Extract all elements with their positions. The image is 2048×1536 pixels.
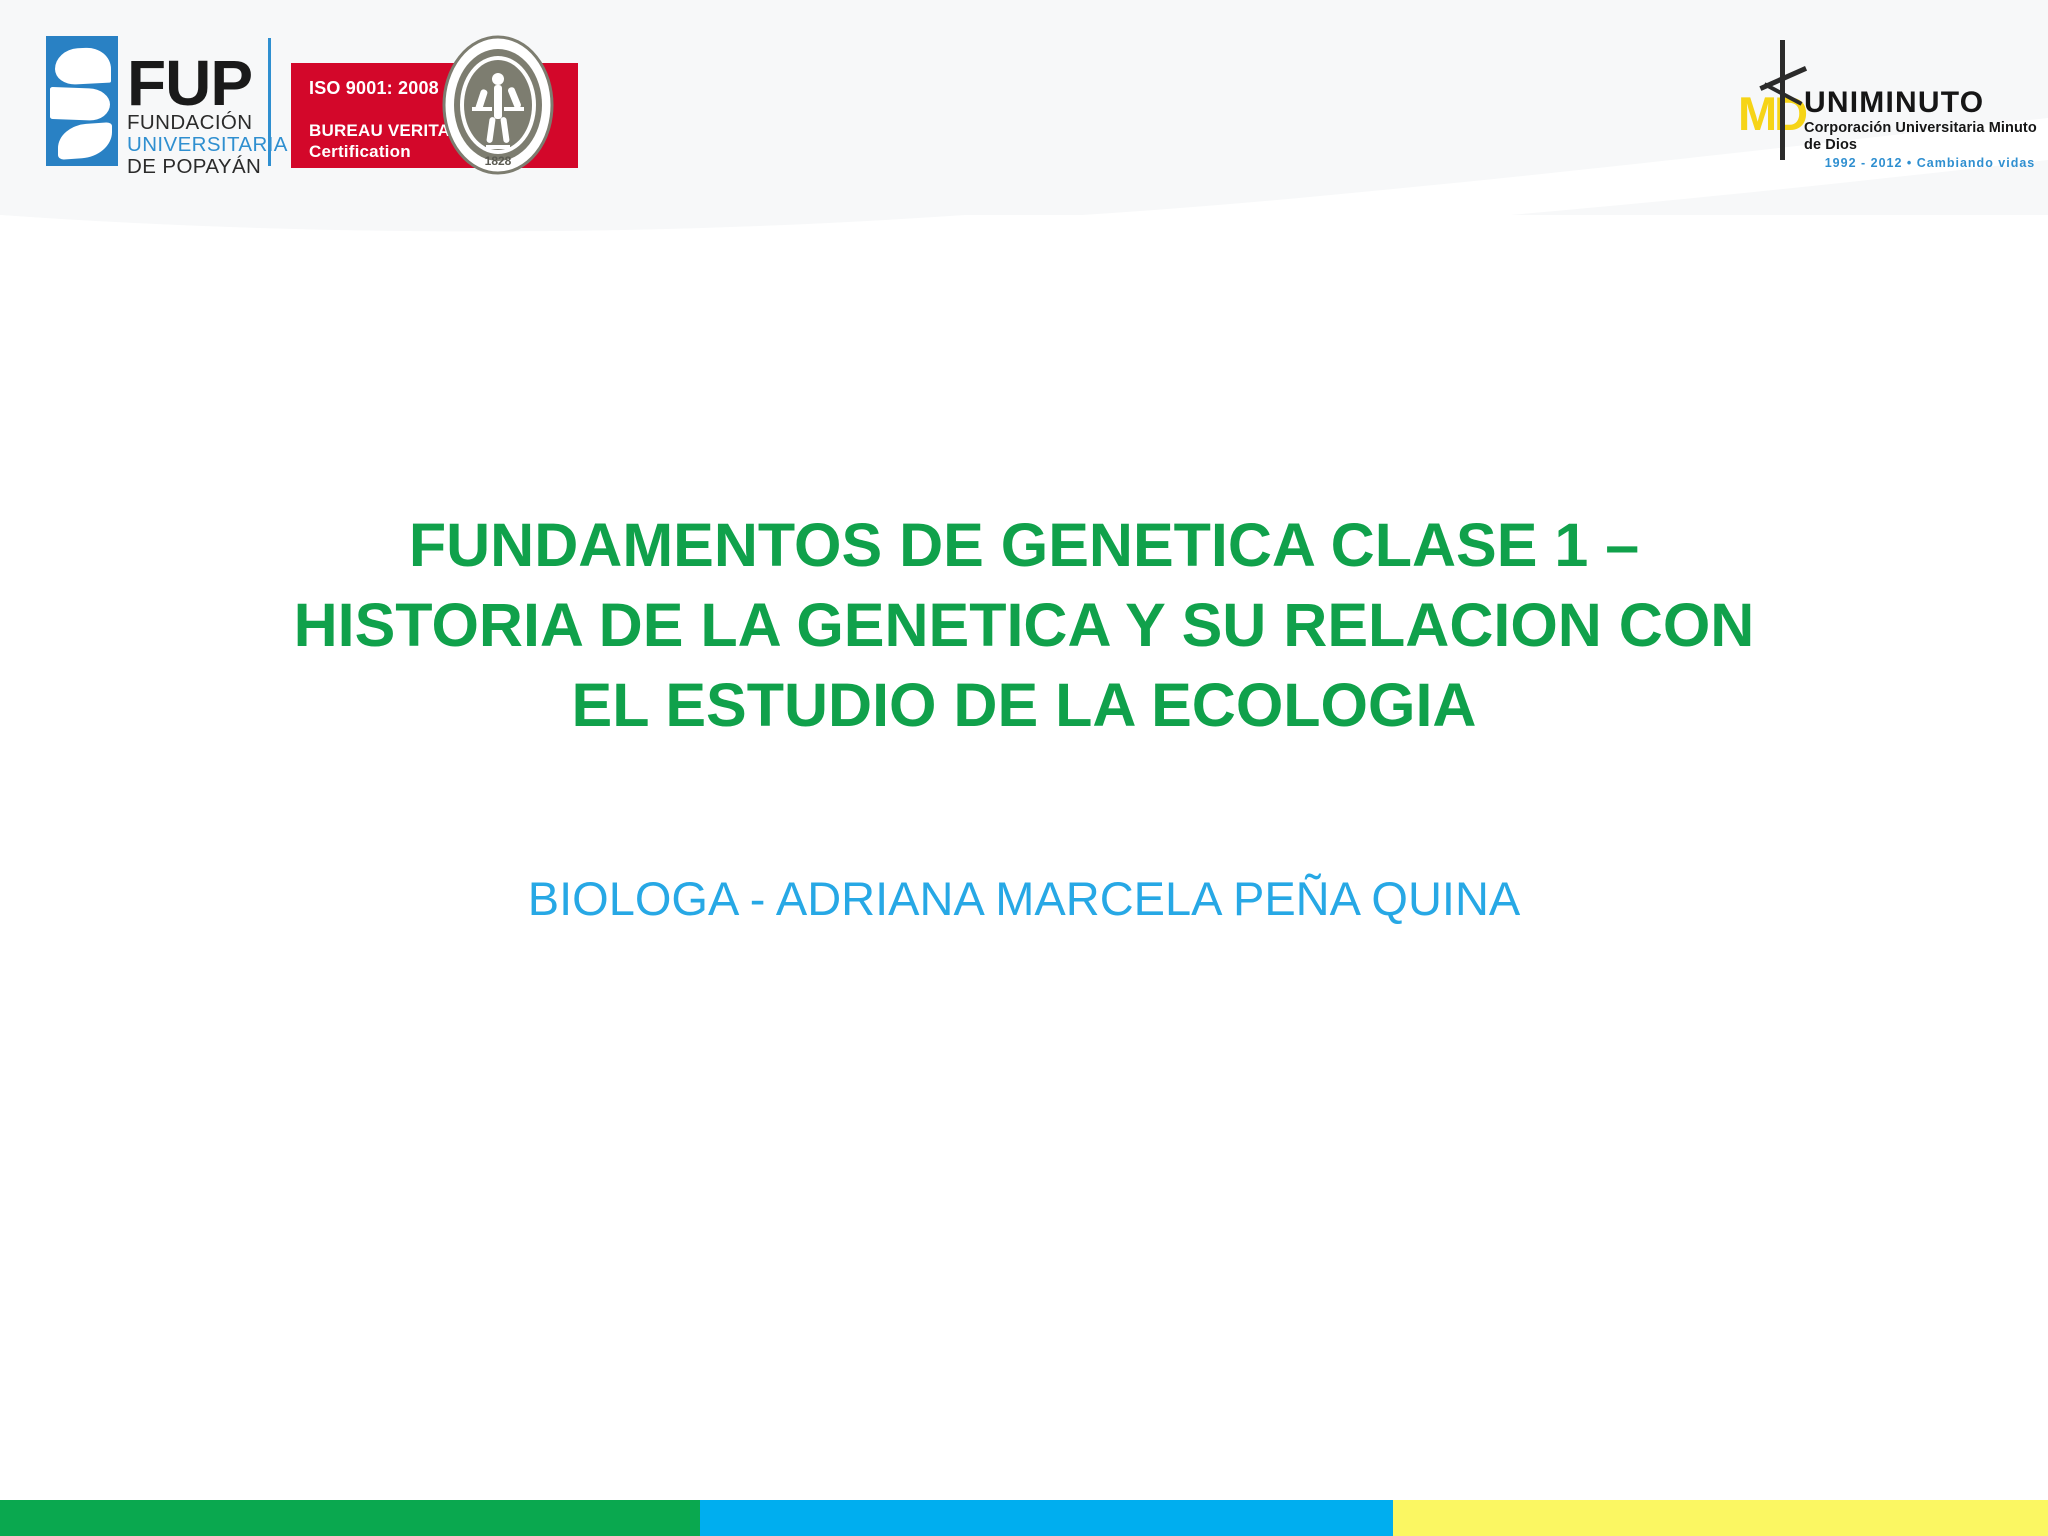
iso-plate-text: ISO 9001: 2008 BUREAU VERITAS Certificat…: [309, 77, 462, 162]
uniminuto-anniversary-line: 1992 - 2012 • Cambiando vidas: [1804, 156, 2048, 171]
fup-acronym: FUP: [127, 54, 288, 112]
bureau-veritas-seal-icon: 1828: [442, 35, 554, 175]
iso-service-label: Certification: [309, 141, 462, 162]
uniminuto-logo: MD UNIMINUTO Corporación Universitaria M…: [1718, 40, 2048, 160]
presentation-slide: FUP FUNDACIÓN UNIVERSITARIA DE POPAYÁN I…: [0, 0, 2048, 1536]
fup-line-popayan: DE POPAYÁN: [127, 156, 288, 178]
seal-year-label: 1828: [485, 154, 512, 168]
iso-standard-label: ISO 9001: 2008: [309, 77, 462, 99]
fup-logo: FUP FUNDACIÓN UNIVERSITARIA DE POPAYÁN: [46, 36, 288, 168]
iso-body-label: BUREAU VERITAS: [309, 120, 462, 141]
logo-row: FUP FUNDACIÓN UNIVERSITARIA DE POPAYÁN I…: [0, 0, 2048, 215]
uniminuto-name: UNIMINUTO: [1804, 88, 2048, 118]
footer-bar-blue: [700, 1500, 1393, 1536]
slide-subtitle: BIOLOGA - ADRIANA MARCELA PEÑA QUINA: [110, 870, 1938, 928]
uniminuto-tagline: Corporación Universitaria Minuto de Dios: [1804, 120, 2048, 154]
slide-title: FUNDAMENTOS DE GENETICA CLASE 1 – HISTOR…: [110, 505, 1938, 745]
fup-mark-icon: [46, 36, 118, 166]
subtitle-block: BIOLOGA - ADRIANA MARCELA PEÑA QUINA: [110, 870, 1938, 928]
fup-wordmark: FUP FUNDACIÓN UNIVERSITARIA DE POPAYÁN: [127, 36, 288, 178]
footer-bar-green: [0, 1500, 700, 1536]
footer-bar-yellow: [1393, 1500, 2048, 1536]
logo-divider-rule: [268, 38, 271, 166]
footer-color-bar: [0, 1500, 2048, 1536]
uniminuto-wordmark: UNIMINUTO Corporación Universitaria Minu…: [1804, 88, 2048, 171]
fup-line-universitaria: UNIVERSITARIA: [127, 134, 288, 156]
title-block: FUNDAMENTOS DE GENETICA CLASE 1 – HISTOR…: [110, 505, 1938, 745]
fup-line-fundacion: FUNDACIÓN: [127, 112, 288, 134]
